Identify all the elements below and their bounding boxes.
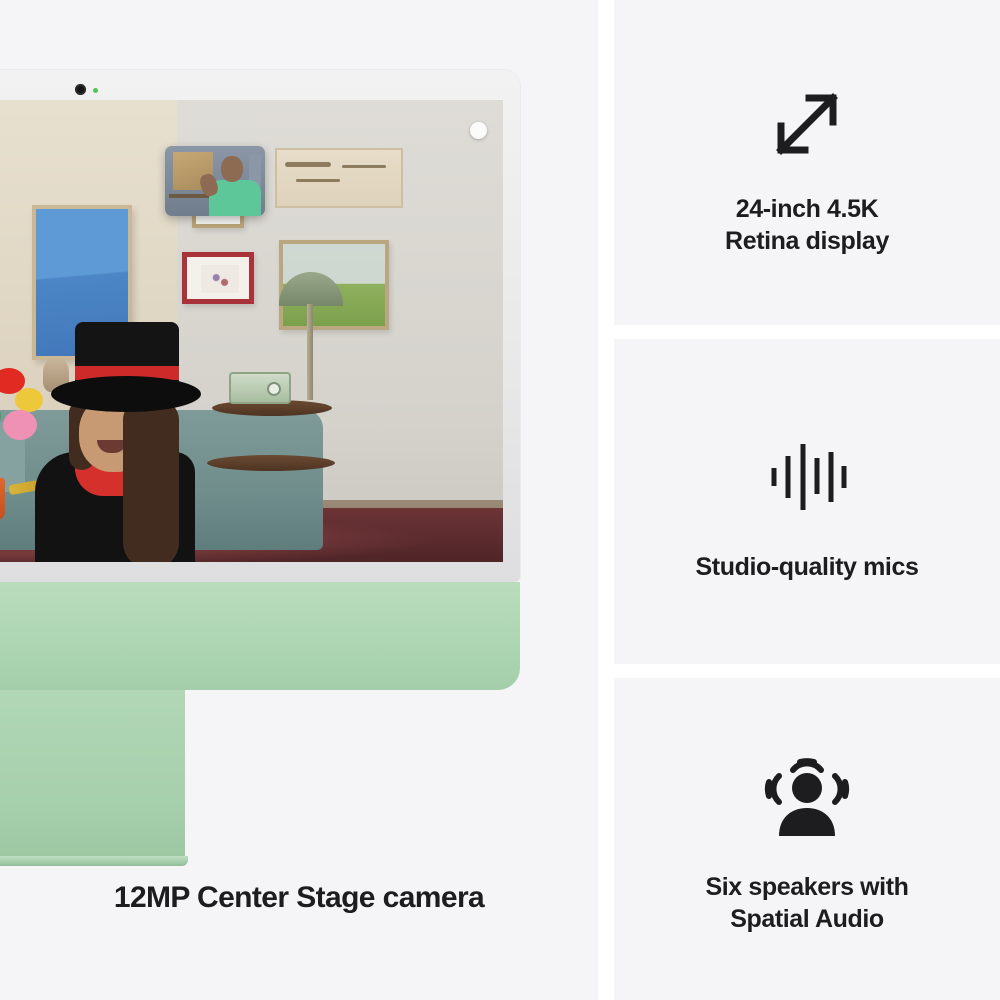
imac-stand-foot <box>0 856 188 866</box>
side-table-shelf <box>207 455 335 471</box>
flower-pink <box>3 410 37 440</box>
top-hat-brim <box>51 376 201 412</box>
expand-arrows-icon <box>759 69 855 179</box>
retro-radio <box>229 372 291 404</box>
imac-product-image <box>0 70 520 650</box>
flower-stems <box>0 388 9 488</box>
girl-hair <box>123 400 179 562</box>
hero-caption: 12MP Center Stage camera <box>0 880 598 916</box>
feature-label-display: 24-inch 4.5K Retina display <box>711 193 903 257</box>
page-root: 12MP Center Stage camera 24-inch 4.5K Re… <box>0 0 1000 1000</box>
spatial-audio-person-icon <box>757 743 857 853</box>
feature-card-display: 24-inch 4.5K Retina display <box>614 0 1000 325</box>
pip-person-head <box>221 156 243 182</box>
feature-label-mics: Studio-quality mics <box>682 551 933 583</box>
artwork-red-frame <box>182 252 254 304</box>
facetime-pip-window[interactable] <box>165 146 265 216</box>
feature-card-mics: Studio-quality mics <box>614 339 1000 664</box>
artwork-map <box>275 148 403 208</box>
feature-label-speakers: Six speakers with Spatial Audio <box>691 871 922 935</box>
camera-icon <box>75 84 86 95</box>
feature-cards-column: 24-inch 4.5K Retina display Studio-quali… <box>614 0 1000 1000</box>
feature-card-speakers: Six speakers with Spatial Audio <box>614 678 1000 1000</box>
living-room-scene <box>0 100 503 562</box>
facetime-screen <box>0 100 503 562</box>
imac-stand-neck <box>0 690 185 860</box>
camera-led-indicator <box>93 88 98 93</box>
flower-pot <box>0 478 5 520</box>
flower-yellow <box>15 388 43 412</box>
audio-waveform-icon <box>759 421 855 531</box>
hero-panel: 12MP Center Stage camera <box>0 0 598 1000</box>
table-lamp-pole <box>307 304 313 400</box>
circle-icon[interactable] <box>470 122 487 139</box>
imac-chin <box>0 582 520 690</box>
